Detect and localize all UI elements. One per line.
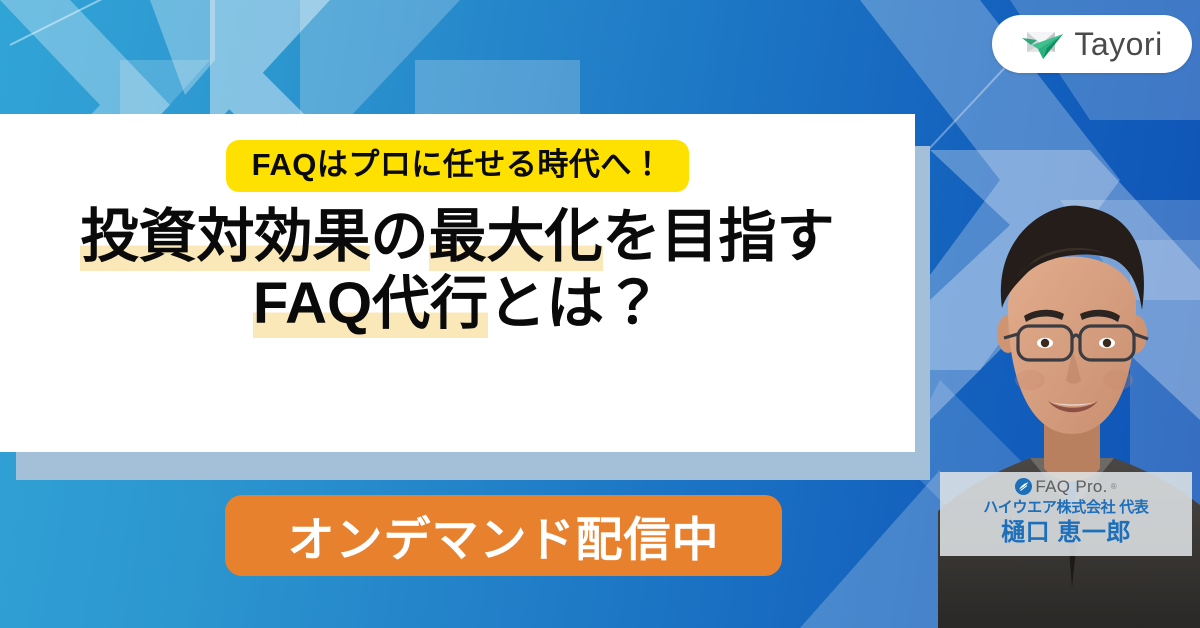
headline-plain-3: とは？ <box>488 271 662 336</box>
banner-stage: Tayori FAQはプロに任せる時代へ！ 投資対効果の最大化を目指す FAQ代… <box>0 0 1200 628</box>
speaker-name: 樋口 恵一郎 <box>944 518 1188 548</box>
headline-highlight-1: 投資対効果 <box>80 204 370 271</box>
faq-pro-circle-icon <box>1015 478 1032 495</box>
headline-plain-2: を目指す <box>603 204 835 269</box>
headline-highlight-3: FAQ代行 <box>253 271 488 338</box>
headline-plain-1: の <box>370 204 428 269</box>
page-title: 投資対効果の最大化を目指す FAQ代行とは？ <box>80 206 834 335</box>
eyebrow-badge: FAQはプロに任せる時代へ！ <box>226 140 690 192</box>
cta-button[interactable]: オンデマンド配信中 <box>225 495 782 576</box>
headline-card: FAQはプロに任せる時代へ！ 投資対効果の最大化を目指す FAQ代行とは？ <box>0 114 915 452</box>
headline-line-1: 投資対効果の最大化を目指す <box>80 206 834 267</box>
faq-pro-logo: FAQ Pro. ® <box>944 478 1188 495</box>
speaker-nameplate: FAQ Pro. ® ハイウエア株式会社 代表 樋口 恵一郎 <box>940 472 1192 556</box>
speaker-company: ハイウエア株式会社 代表 <box>944 499 1188 517</box>
speaker-portrait <box>938 158 1200 628</box>
headline-line-2: FAQ代行とは？ <box>80 273 834 334</box>
faq-pro-logo-text: FAQ Pro. <box>1035 478 1107 495</box>
headline-highlight-2: 最大化 <box>429 204 603 271</box>
registered-mark: ® <box>1111 483 1117 491</box>
speaker-panel: FAQ Pro. ® ハイウエア株式会社 代表 樋口 恵一郎 <box>932 0 1200 628</box>
